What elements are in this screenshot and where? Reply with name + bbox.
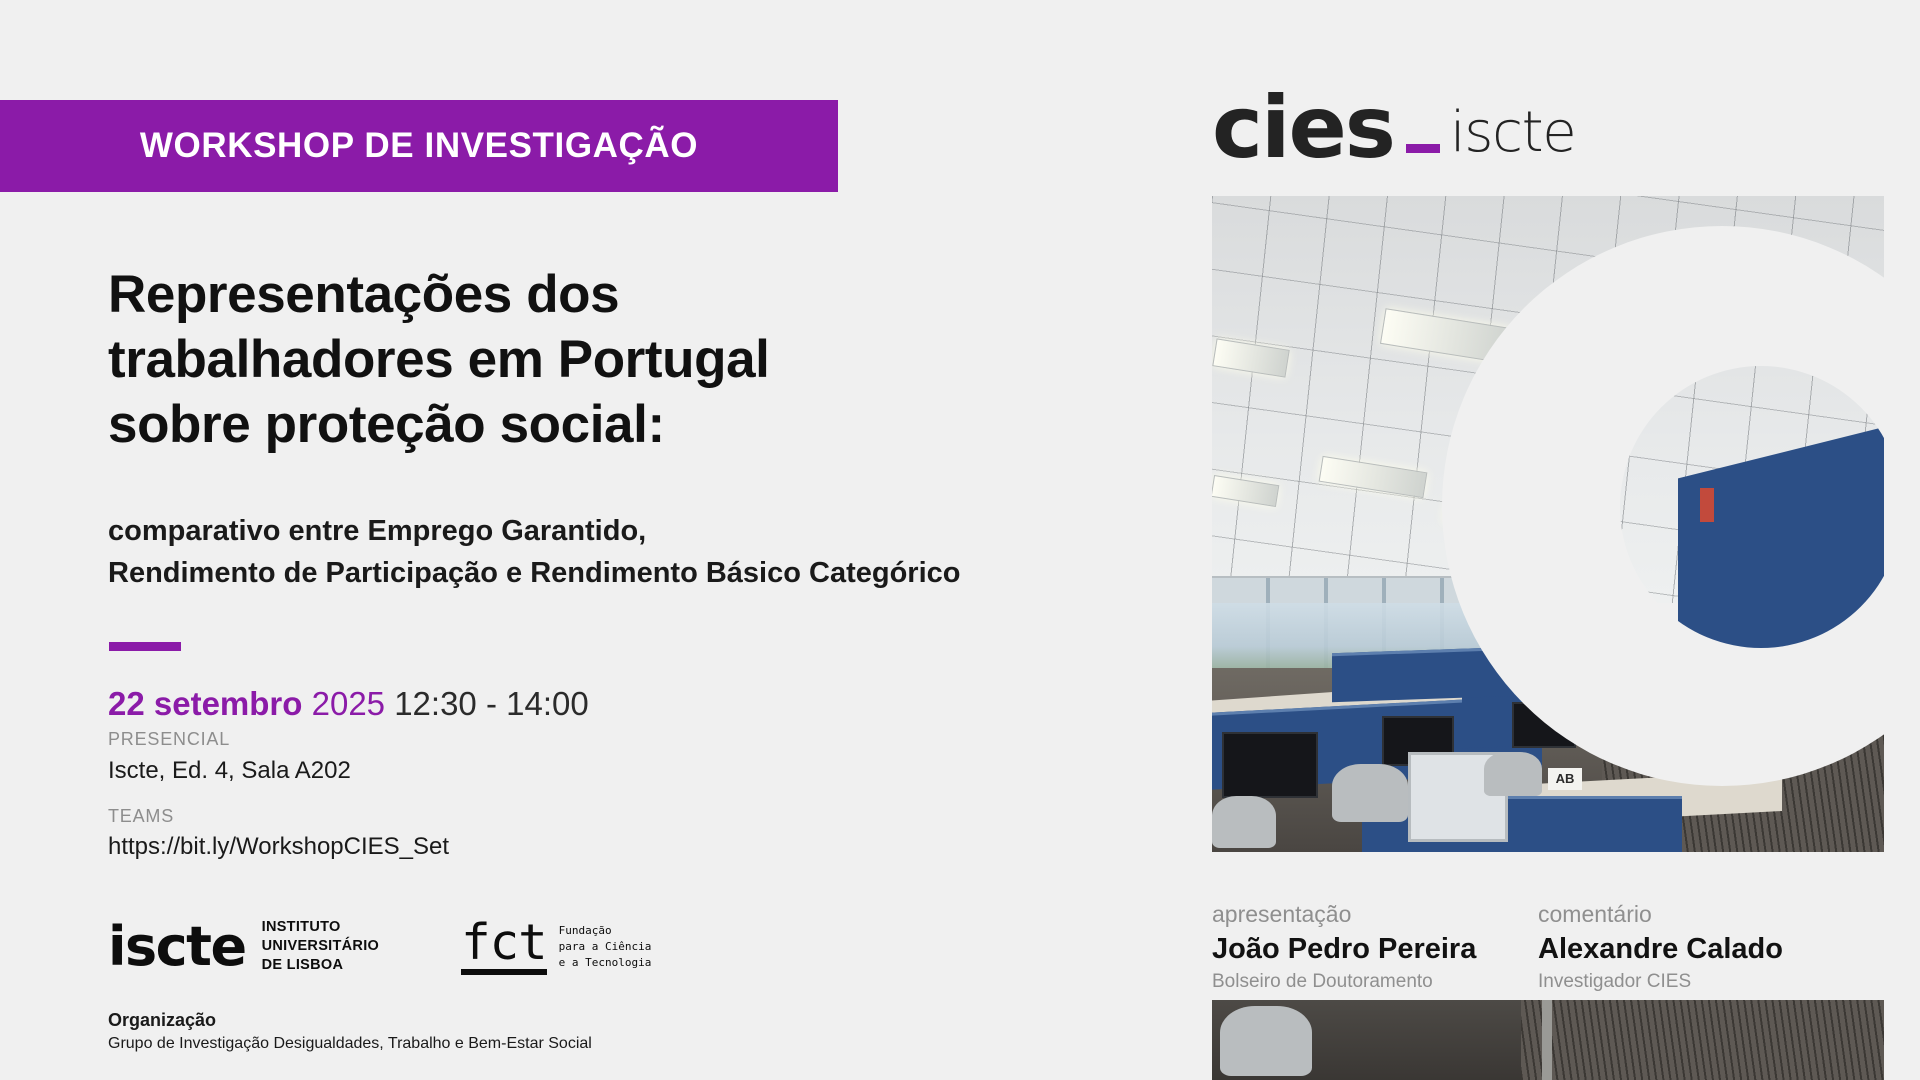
presencial-label: PRESENCIAL bbox=[108, 729, 230, 750]
underscore-icon bbox=[1406, 144, 1440, 153]
title-line-2: trabalhadores em Portugal bbox=[108, 327, 988, 392]
event-subtitle: comparativo entre Emprego Garantido, Ren… bbox=[108, 510, 1008, 594]
cies-iscte-logo: cies iscte bbox=[1212, 90, 1575, 167]
presenter-affiliation: Investigador CIES bbox=[1538, 970, 1864, 995]
fct-wordmark: fct bbox=[461, 918, 547, 975]
workshop-banner: WORKSHOP DE INVESTIGAÇÃO bbox=[0, 100, 838, 192]
event-datetime: 22 setembro 2025 12:30 - 14:00 bbox=[108, 685, 589, 723]
presenter-role: apresentação bbox=[1212, 900, 1538, 929]
fct-logo: fct Fundação para a Ciência e a Tecnolog… bbox=[461, 918, 651, 975]
organization-group: Grupo de Investigação Desigualdades, Tra… bbox=[108, 1035, 592, 1053]
title-line-3: sobre proteção social: bbox=[108, 392, 988, 457]
left-content-column: WORKSHOP DE INVESTIGAÇÃO Representações … bbox=[0, 0, 1000, 1080]
title-line-1: Representações dos bbox=[108, 262, 988, 327]
iscte-sub-line-1: INSTITUTO bbox=[262, 919, 341, 935]
fct-sub-line-2: para a Ciência bbox=[559, 940, 652, 953]
office-photo-lower-strip bbox=[1212, 1000, 1884, 1080]
c-ring-inner-scene bbox=[1620, 366, 1884, 648]
fct-sub-line-3: e a Tecnologia bbox=[559, 956, 652, 969]
office-chair bbox=[1212, 796, 1276, 848]
monitor bbox=[1222, 732, 1318, 798]
wall-poster bbox=[1700, 488, 1714, 522]
desk-leg bbox=[1542, 1000, 1552, 1080]
fct-subtitle: Fundação para a Ciência e a Tecnologia bbox=[559, 923, 652, 971]
presenter-role: comentário bbox=[1538, 900, 1864, 929]
presenter-name: João Pedro Pereira bbox=[1212, 931, 1538, 969]
subtitle-line-2: Rendimento de Participação e Rendimento … bbox=[108, 552, 1008, 594]
cies-wordmark: cies bbox=[1212, 90, 1394, 167]
subtitle-line-1: comparativo entre Emprego Garantido, bbox=[108, 510, 1008, 552]
banner-label: WORKSHOP DE INVESTIGAÇÃO bbox=[140, 126, 698, 166]
event-time: 12:30 - 14:00 bbox=[394, 685, 589, 722]
presenter-name: Alexandre Calado bbox=[1538, 931, 1864, 969]
event-year: 2025 bbox=[312, 685, 385, 722]
presenter-block: apresentação João Pedro Pereira Bolseiro… bbox=[1212, 900, 1538, 995]
office-chair bbox=[1484, 752, 1542, 796]
iscte-sub-line-2: UNIVERSITÁRIO bbox=[262, 938, 380, 954]
iscte-wordmark: iscte bbox=[108, 920, 246, 974]
presenters-row: apresentação João Pedro Pereira Bolseiro… bbox=[1212, 900, 1864, 995]
iscte-sub-line-3: DE LISBOA bbox=[262, 957, 344, 973]
office-chair bbox=[1332, 764, 1408, 822]
cies-iscte-suffix: iscte bbox=[1450, 105, 1575, 161]
fct-sub-line-1: Fundação bbox=[559, 924, 612, 937]
office-photo: AD AC AB bbox=[1212, 196, 1884, 852]
presencial-value: Iscte, Ed. 4, Sala A202 bbox=[108, 757, 351, 785]
office-chair bbox=[1220, 1006, 1312, 1076]
carpet bbox=[1514, 1000, 1884, 1080]
teams-link[interactable]: https://bit.ly/WorkshopCIES_Set bbox=[108, 833, 449, 861]
organization-block: Organização Grupo de Investigação Desigu… bbox=[108, 1010, 592, 1053]
organization-title: Organização bbox=[108, 1010, 592, 1031]
event-title: Representações dos trabalhadores em Port… bbox=[108, 262, 988, 458]
institutional-logos: iscte INSTITUTO UNIVERSITÁRIO DE LISBOA … bbox=[108, 918, 651, 975]
presenter-affiliation: Bolseiro de Doutoramento bbox=[1212, 970, 1538, 995]
iscte-logo: iscte INSTITUTO UNIVERSITÁRIO DE LISBOA bbox=[108, 918, 379, 975]
presenter-block: comentário Alexandre Calado Investigador… bbox=[1538, 900, 1864, 995]
event-date: 22 setembro bbox=[108, 685, 302, 722]
desk-tag: AB bbox=[1548, 768, 1582, 790]
iscte-subtitle: INSTITUTO UNIVERSITÁRIO DE LISBOA bbox=[262, 918, 380, 975]
purple-accent-bar bbox=[109, 642, 181, 651]
teams-label: TEAMS bbox=[108, 806, 174, 827]
right-media-column: cies iscte bbox=[1000, 0, 1920, 1080]
c-ring-inner-window bbox=[1620, 366, 1884, 648]
